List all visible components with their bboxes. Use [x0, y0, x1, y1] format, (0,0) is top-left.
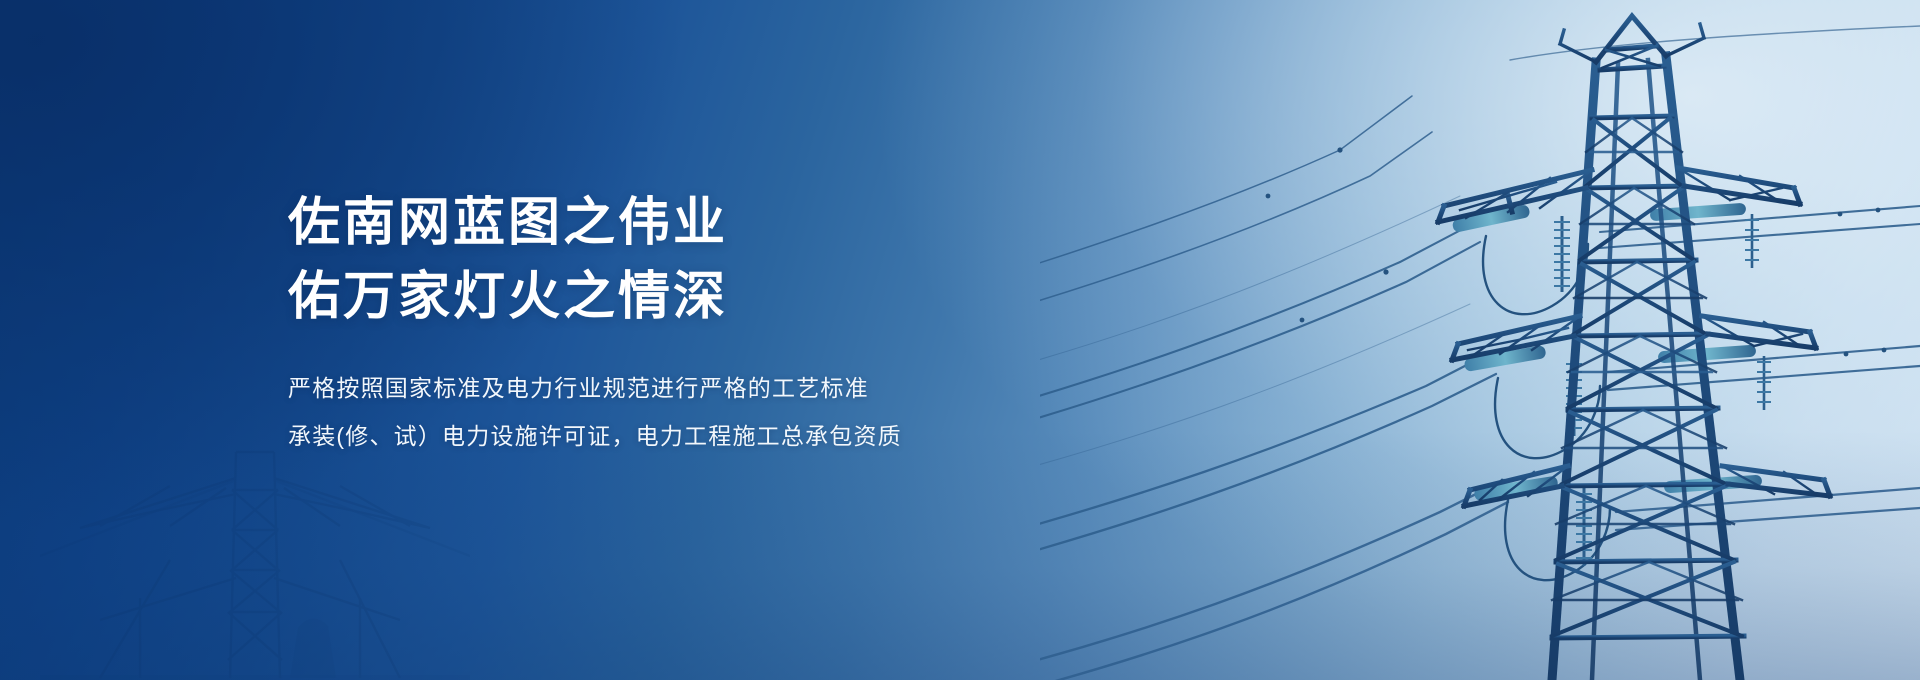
subtitle-group: 严格按照国家标准及电力行业规范进行严格的工艺标准 承装(修、试）电力设施许可证，…	[288, 364, 1188, 460]
sky-gradient-floor	[0, 430, 1920, 680]
hero-copy: 佐南网蓝图之伟业 佑万家灯火之情深 严格按照国家标准及电力行业规范进行严格的工艺…	[288, 186, 1188, 460]
hero-banner: 佐南网蓝图之伟业 佑万家灯火之情深 严格按照国家标准及电力行业规范进行严格的工艺…	[0, 0, 1920, 680]
subtitle-line-1: 严格按照国家标准及电力行业规范进行严格的工艺标准	[288, 364, 1188, 412]
subtitle-line-2: 承装(修、试）电力设施许可证，电力工程施工总承包资质	[288, 412, 1188, 460]
headline-line-2: 佑万家灯火之情深	[288, 260, 1188, 334]
headline-line-1: 佐南网蓝图之伟业	[288, 186, 1188, 260]
